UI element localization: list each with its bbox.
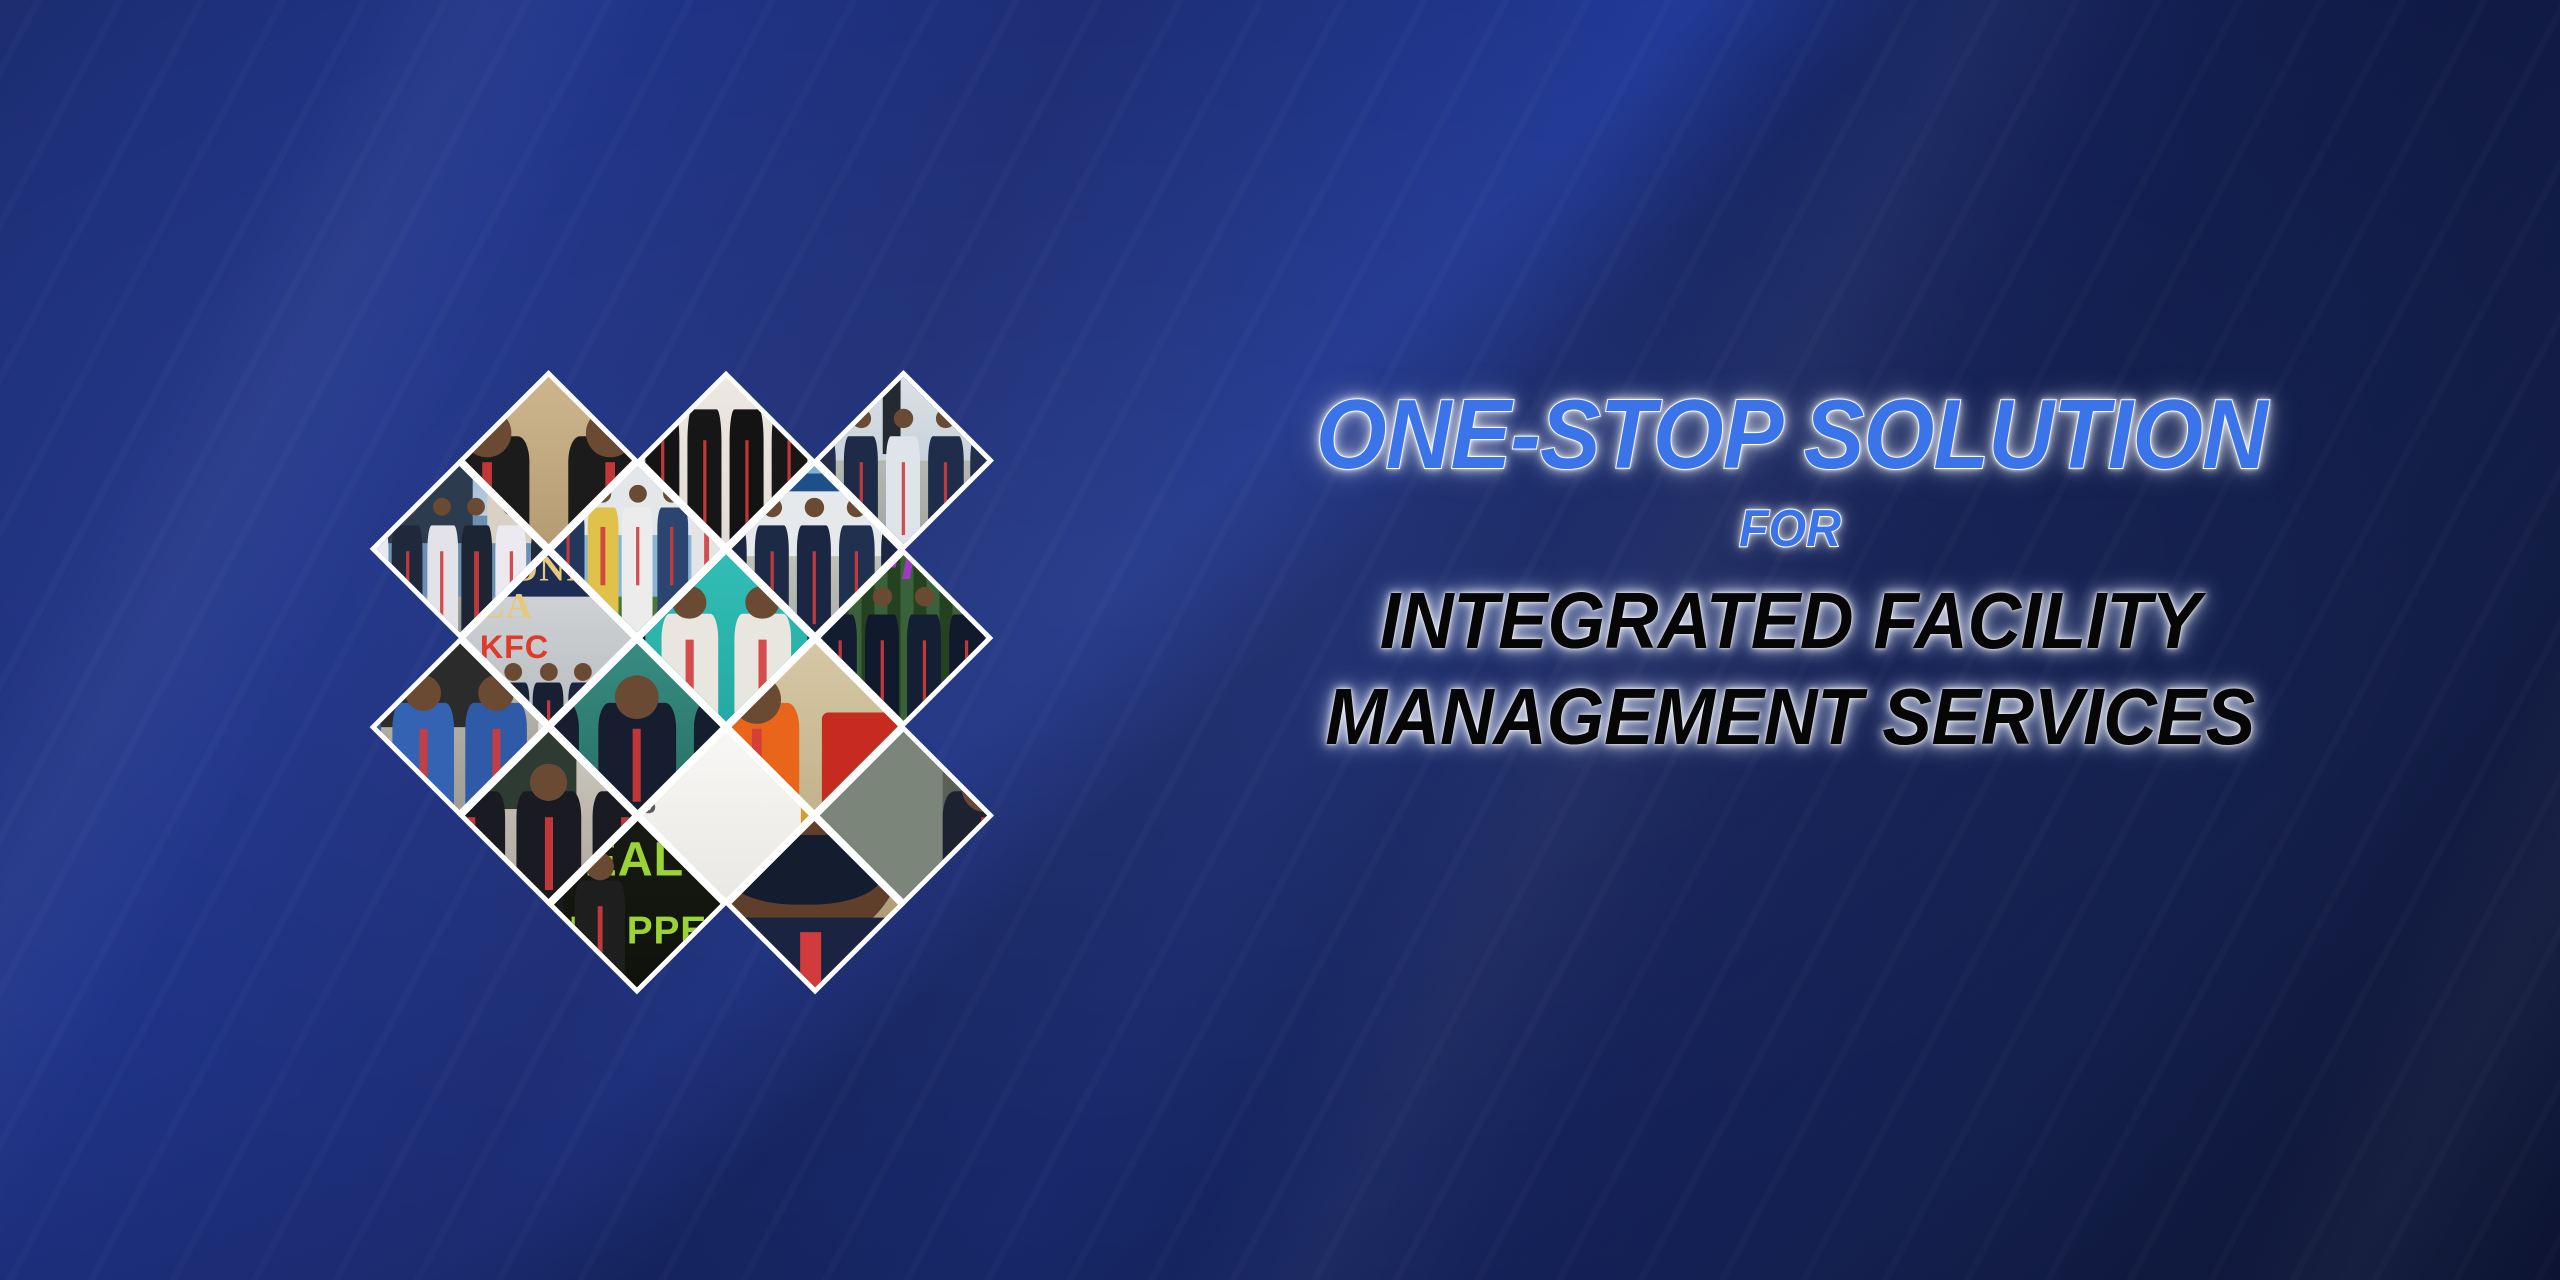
promo-banner: Wipro [0,0,2560,1280]
headline-secondary-line-2: MANAGEMENT SERVICES [1316,677,2265,757]
headline-secondary-line-1: INTEGRATED FACILITY [1316,581,2265,661]
headline-block: ONE-STOP SOLUTION FOR INTEGRATED FACILIT… [1280,385,2300,757]
photo-collage-diamond: Wipro [295,200,1157,1075]
photo-collage-grid: Wipro [288,199,1165,1076]
headline-connector: FOR [1316,503,2265,555]
headline-primary: ONE-STOP SOLUTION [1316,385,2265,483]
